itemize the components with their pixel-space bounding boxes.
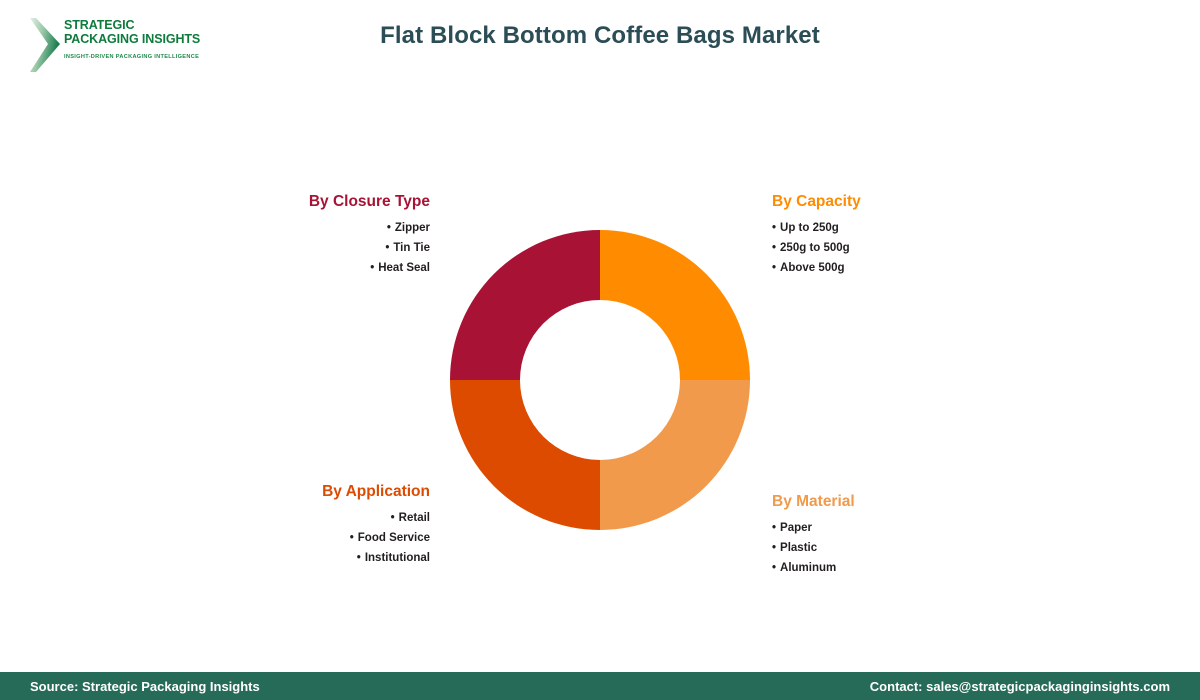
bullet-icon: • xyxy=(772,238,776,258)
list-item-label: Plastic xyxy=(780,542,817,554)
list-item-label: Aluminum xyxy=(780,562,836,574)
bullet-icon: • xyxy=(772,218,776,238)
list-item-label: Retail xyxy=(399,512,430,524)
bullet-icon: • xyxy=(772,558,776,578)
list-item-label: Food Service xyxy=(358,532,430,544)
footer-bar: Source: Strategic Packaging Insights Con… xyxy=(0,672,1200,700)
infographic-canvas: STRATEGIC PACKAGING INSIGHTS INSIGHT-DRI… xyxy=(0,0,1200,700)
list-item-label: Tin Tie xyxy=(393,242,430,254)
segment-group-material: By Material •Paper •Plastic •Aluminum xyxy=(772,492,1002,578)
list-item: •Paper xyxy=(772,518,1002,538)
segment-title-application: By Application xyxy=(210,482,430,501)
page-title: Flat Block Bottom Coffee Bags Market xyxy=(0,22,1200,50)
list-item: •Zipper xyxy=(210,218,430,238)
segment-list-closure-type: •Zipper •Tin Tie •Heat Seal xyxy=(210,218,430,278)
bullet-icon: • xyxy=(387,218,391,238)
segment-title-closure-type: By Closure Type xyxy=(210,192,430,211)
list-item: •Aluminum xyxy=(772,558,1002,578)
segment-list-application: •Retail •Food Service •Institutional xyxy=(210,508,430,568)
footer-contact[interactable]: Contact: sales@strategicpackaginginsight… xyxy=(870,679,1170,694)
list-item-label: Institutional xyxy=(365,552,430,564)
list-item: •Retail xyxy=(210,508,430,528)
segment-list-capacity: •Up to 250g •250g to 500g •Above 500g xyxy=(772,218,1002,278)
bullet-icon: • xyxy=(350,528,354,548)
bullet-icon: • xyxy=(391,508,395,528)
list-item-label: Up to 250g xyxy=(780,222,839,234)
list-item: •Institutional xyxy=(210,548,430,568)
donut-chart xyxy=(450,230,750,530)
segment-list-material: •Paper •Plastic •Aluminum xyxy=(772,518,1002,578)
list-item: •Plastic xyxy=(772,538,1002,558)
list-item: •Tin Tie xyxy=(210,238,430,258)
list-item-label: 250g to 500g xyxy=(780,242,850,254)
list-item-label: Zipper xyxy=(395,222,430,234)
segment-title-material: By Material xyxy=(772,492,1002,511)
donut-chart-svg xyxy=(450,230,750,530)
logo-tagline: INSIGHT-DRIVEN PACKAGING INTELLIGENCE xyxy=(64,54,212,60)
list-item-label: Above 500g xyxy=(780,262,845,274)
list-item: •Up to 250g xyxy=(772,218,1002,238)
bullet-icon: • xyxy=(772,518,776,538)
bullet-icon: • xyxy=(772,538,776,558)
bullet-icon: • xyxy=(772,258,776,278)
list-item: •250g to 500g xyxy=(772,238,1002,258)
list-item: •Heat Seal xyxy=(210,258,430,278)
list-item-label: Paper xyxy=(780,522,812,534)
segment-group-application: By Application •Retail •Food Service •In… xyxy=(210,482,430,568)
segment-title-capacity: By Capacity xyxy=(772,192,1002,211)
list-item: •Above 500g xyxy=(772,258,1002,278)
donut-center-hole xyxy=(520,300,680,460)
bullet-icon: • xyxy=(370,258,374,278)
bullet-icon: • xyxy=(357,548,361,568)
footer-source: Source: Strategic Packaging Insights xyxy=(30,679,260,694)
list-item-label: Heat Seal xyxy=(378,262,430,274)
segment-group-capacity: By Capacity •Up to 250g •250g to 500g •A… xyxy=(772,192,1002,278)
list-item: •Food Service xyxy=(210,528,430,548)
bullet-icon: • xyxy=(385,238,389,258)
segment-group-closure-type: By Closure Type •Zipper •Tin Tie •Heat S… xyxy=(210,192,430,278)
